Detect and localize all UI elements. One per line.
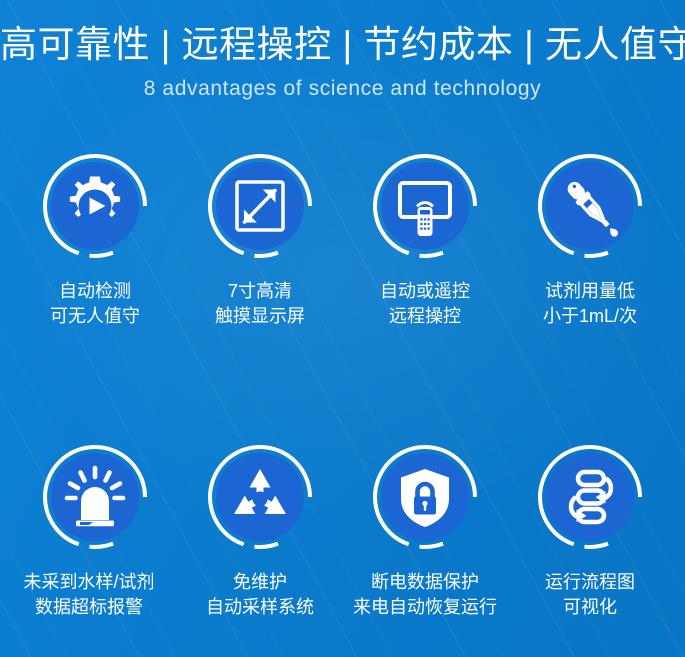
advantage-label-4-line2: 小于1mL/次 xyxy=(543,304,637,329)
screen-remote-wifi-icon xyxy=(369,150,481,262)
advantage-label-1-line1: 自动检测 xyxy=(50,279,140,304)
advantage-label-7-line2: 来电自动恢复运行 xyxy=(353,595,497,620)
advantage-badge-5 xyxy=(39,441,151,553)
advantage-label-8-line1: 运行流程图 xyxy=(545,570,635,595)
advantage-label-1-line2: 可无人值守 xyxy=(50,304,140,329)
advantages-row-1: 自动检测 可无人值守 xyxy=(0,150,685,329)
advantage-badge-6 xyxy=(204,441,316,553)
advantage-item-8[interactable]: 运行流程图 可视化 xyxy=(509,441,671,620)
advantage-label-4: 试剂用量低 小于1mL/次 xyxy=(543,279,637,329)
advantage-item-5[interactable]: 未采到水样/试剂 数据超标报警 xyxy=(14,441,176,620)
advantage-label-1: 自动检测 可无人值守 xyxy=(50,279,140,329)
page-subtitle: 8 advantages of science and technology xyxy=(0,74,685,104)
advantage-label-8: 运行流程图 可视化 xyxy=(545,570,635,620)
gear-play-icon xyxy=(39,150,151,262)
advantage-label-2-line2: 触摸显示屏 xyxy=(215,304,305,329)
advantage-badge-4 xyxy=(534,150,646,262)
advantage-item-1[interactable]: 自动检测 可无人值守 xyxy=(14,150,176,329)
advantages-grid: 自动检测 可无人值守 xyxy=(0,150,685,620)
shield-lock-icon xyxy=(369,441,481,553)
advantage-label-6-line1: 免维护 xyxy=(206,570,314,595)
advantage-item-7[interactable]: 断电数据保护 来电自动恢复运行 xyxy=(344,441,506,620)
advantage-label-7: 断电数据保护 来电自动恢复运行 xyxy=(353,570,497,620)
dropper-pipette-icon xyxy=(534,150,646,262)
flowchart-loop-icon xyxy=(534,441,646,553)
advantage-badge-8 xyxy=(534,441,646,553)
advantage-badge-7 xyxy=(369,441,481,553)
promo-poster: 高可靠性 | 远程操控 | 节约成本 | 无人值守 8 advantages o… xyxy=(0,0,685,657)
advantage-badge-2 xyxy=(204,150,316,262)
advantage-label-5-line2: 数据超标报警 xyxy=(23,595,154,620)
advantage-badge-1 xyxy=(39,150,151,262)
page-title: 高可靠性 | 远程操控 | 节约成本 | 无人值守 xyxy=(0,22,685,68)
advantage-item-4[interactable]: 试剂用量低 小于1mL/次 xyxy=(509,150,671,329)
advantages-row-2: 未采到水样/试剂 数据超标报警 xyxy=(0,441,685,620)
advantage-label-5-line1: 未采到水样/试剂 xyxy=(23,570,154,595)
advantage-item-2[interactable]: 7寸高清 触摸显示屏 xyxy=(179,150,341,329)
recycle-icon xyxy=(204,441,316,553)
advantage-label-6: 免维护 自动采样系统 xyxy=(206,570,314,620)
advantage-item-6[interactable]: 免维护 自动采样系统 xyxy=(179,441,341,620)
advantage-label-4-line1: 试剂用量低 xyxy=(543,279,637,304)
advantage-label-6-line2: 自动采样系统 xyxy=(206,595,314,620)
advantage-label-3-line1: 自动或遥控 xyxy=(380,279,470,304)
advantage-label-3-line2: 远程操控 xyxy=(380,304,470,329)
advantage-label-2: 7寸高清 触摸显示屏 xyxy=(215,279,305,329)
advantage-label-7-line1: 断电数据保护 xyxy=(353,570,497,595)
poster-header: 高可靠性 | 远程操控 | 节约成本 | 无人值守 8 advantages o… xyxy=(0,0,685,104)
advantage-label-2-line1: 7寸高清 xyxy=(215,279,305,304)
alarm-siren-icon xyxy=(39,441,151,553)
advantage-label-8-line2: 可视化 xyxy=(545,595,635,620)
expand-screen-icon xyxy=(204,150,316,262)
advantage-label-5: 未采到水样/试剂 数据超标报警 xyxy=(23,570,154,620)
advantage-item-3[interactable]: 自动或遥控 远程操控 xyxy=(344,150,506,329)
advantage-label-3: 自动或遥控 远程操控 xyxy=(380,279,470,329)
advantage-badge-3 xyxy=(369,150,481,262)
